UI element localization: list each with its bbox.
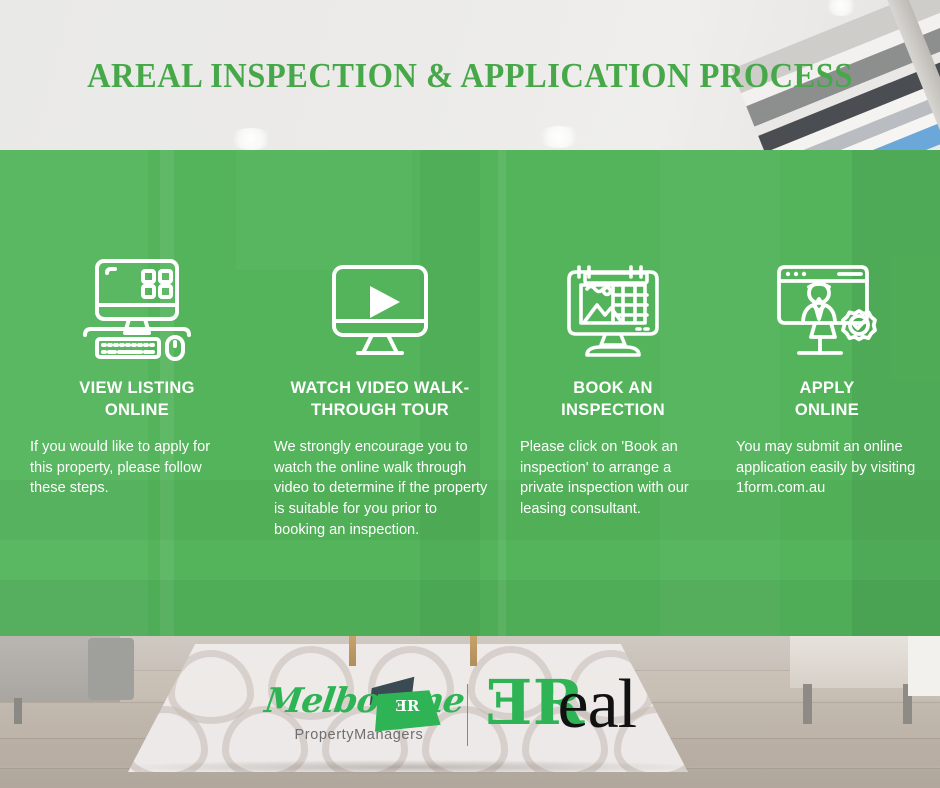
chair-leg bbox=[470, 636, 477, 666]
melbourne-property-managers-logo[interactable]: Melbourne ƎR PropertyManagers bbox=[265, 677, 455, 753]
poster-root: AREAL INSPECTION & APPLICATION PROCESS bbox=[0, 0, 940, 788]
logo-divider bbox=[467, 684, 468, 746]
logo-script-text: Melbourne bbox=[262, 681, 466, 721]
areal-logo[interactable]: ƎR eal bbox=[486, 674, 676, 756]
step-heading-line2: INSPECTION bbox=[508, 400, 718, 422]
step-heading-line1: VIEW LISTING bbox=[14, 378, 260, 400]
logo-monogram: ƎR bbox=[396, 697, 420, 715]
step-icon-container bbox=[722, 254, 932, 364]
step-heading-line2: ONLINE bbox=[14, 400, 260, 422]
ceiling-light-icon bbox=[228, 128, 274, 150]
video-play-monitor-icon bbox=[324, 257, 436, 361]
step-body-text: You may submit an online application eas… bbox=[722, 437, 932, 499]
online-application-gear-icon bbox=[771, 257, 883, 361]
step-heading: APPLY ONLINE bbox=[722, 378, 932, 422]
steps-container: VIEW LISTING ONLINE If you would like to… bbox=[0, 150, 940, 636]
step-heading: VIEW LISTING ONLINE bbox=[14, 378, 260, 422]
step-icon-container bbox=[508, 254, 718, 364]
chair-leg bbox=[349, 636, 356, 666]
step-apply-online: APPLY ONLINE You may submit an online ap… bbox=[722, 150, 932, 499]
areal-logo-word: eal bbox=[558, 670, 637, 740]
step-heading: BOOK AN INSPECTION bbox=[508, 378, 718, 422]
desktop-computer-icon bbox=[81, 257, 193, 361]
step-book-an-inspection: BOOK AN INSPECTION Please click on 'Book… bbox=[508, 150, 718, 520]
step-icon-container bbox=[262, 254, 498, 364]
footer-logos: Melbourne ƎR PropertyManagers ƎR eal bbox=[0, 674, 940, 756]
step-heading: WATCH VIDEO WALK- THROUGH TOUR bbox=[262, 378, 498, 422]
rug-shadow bbox=[120, 760, 700, 774]
step-heading-line2: THROUGH TOUR bbox=[262, 400, 498, 422]
page-title: AREAL INSPECTION & APPLICATION PROCESS bbox=[33, 56, 907, 96]
step-heading-line2: ONLINE bbox=[722, 400, 932, 422]
step-heading-line1: WATCH VIDEO WALK- bbox=[262, 378, 498, 400]
step-body-text: We strongly encourage you to watch the o… bbox=[262, 437, 498, 541]
step-body-text: Please click on 'Book an inspection' to … bbox=[508, 437, 718, 520]
step-watch-video-walkthrough: WATCH VIDEO WALK- THROUGH TOUR We strong… bbox=[262, 150, 498, 540]
calendar-monitor-icon bbox=[557, 257, 669, 361]
step-icon-container bbox=[14, 254, 260, 364]
step-heading-line1: APPLY bbox=[722, 378, 932, 400]
step-body-text: If you would like to apply for this prop… bbox=[14, 437, 260, 499]
step-heading-line1: BOOK AN bbox=[508, 378, 718, 400]
logo-subtitle: PropertyManagers bbox=[295, 727, 424, 743]
step-view-listing-online: VIEW LISTING ONLINE If you would like to… bbox=[14, 150, 260, 499]
ceiling-light-icon bbox=[536, 126, 582, 148]
